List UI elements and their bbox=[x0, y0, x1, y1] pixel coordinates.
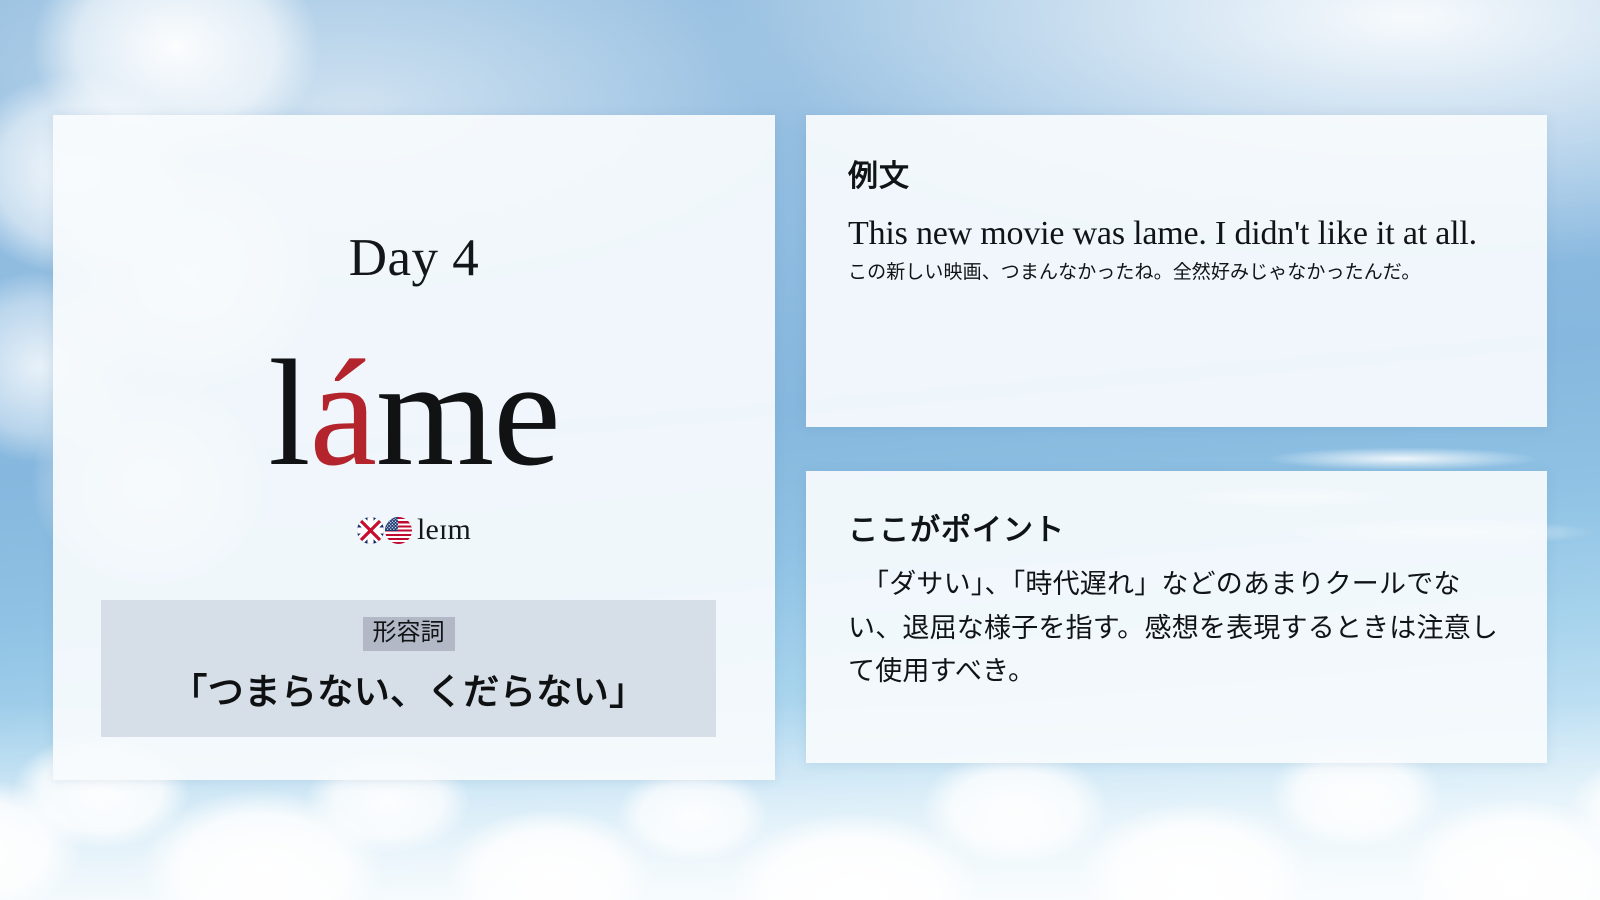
ipa-transcription: leɪm bbox=[417, 513, 471, 547]
headword: láme bbox=[53, 337, 775, 489]
key-point-text: 「ダサい」、「時代遅れ」などのあまりクールでない、退屈な様子を指す。感想を表現す… bbox=[848, 563, 1505, 694]
uk-flag-icon bbox=[357, 517, 384, 544]
headword-prefix: l bbox=[268, 329, 309, 497]
meaning-text: 「つまらない、くだらない」 bbox=[101, 663, 716, 715]
meaning-panel: 形容詞 「つまらない、くだらない」 bbox=[101, 600, 716, 737]
day-label: Day 4 bbox=[53, 232, 775, 285]
point-card-body: ここがポイント 「ダサい」、「時代遅れ」などのあまりクールでない、退屈な様子を指… bbox=[806, 471, 1547, 694]
pronunciation-row: leɪm bbox=[53, 513, 775, 547]
word-card: Day 4 láme leɪm 形容詞 「つまらない、くだらない」 bbox=[53, 115, 775, 780]
headword-stressed-vowel: á bbox=[310, 329, 376, 497]
example-sentence-card: 例文 This new movie was lame. I didn't lik… bbox=[806, 115, 1547, 427]
key-point-card: ここがポイント 「ダサい」、「時代遅れ」などのあまりクールでない、退屈な様子を指… bbox=[806, 471, 1547, 763]
example-sentence-japanese: この新しい映画、つまんなかったね。全然好みじゃなかったんだ。 bbox=[848, 260, 1505, 287]
us-flag-icon bbox=[385, 517, 412, 544]
headword-suffix: me bbox=[376, 329, 560, 497]
example-card-body: 例文 This new movie was lame. I didn't lik… bbox=[806, 115, 1547, 287]
example-sentence-english: This new movie was lame. I didn't like i… bbox=[848, 213, 1505, 254]
example-card-heading: 例文 bbox=[848, 151, 1505, 195]
part-of-speech-badge: 形容詞 bbox=[363, 617, 455, 651]
key-point-heading: ここがポイント bbox=[848, 505, 1505, 549]
